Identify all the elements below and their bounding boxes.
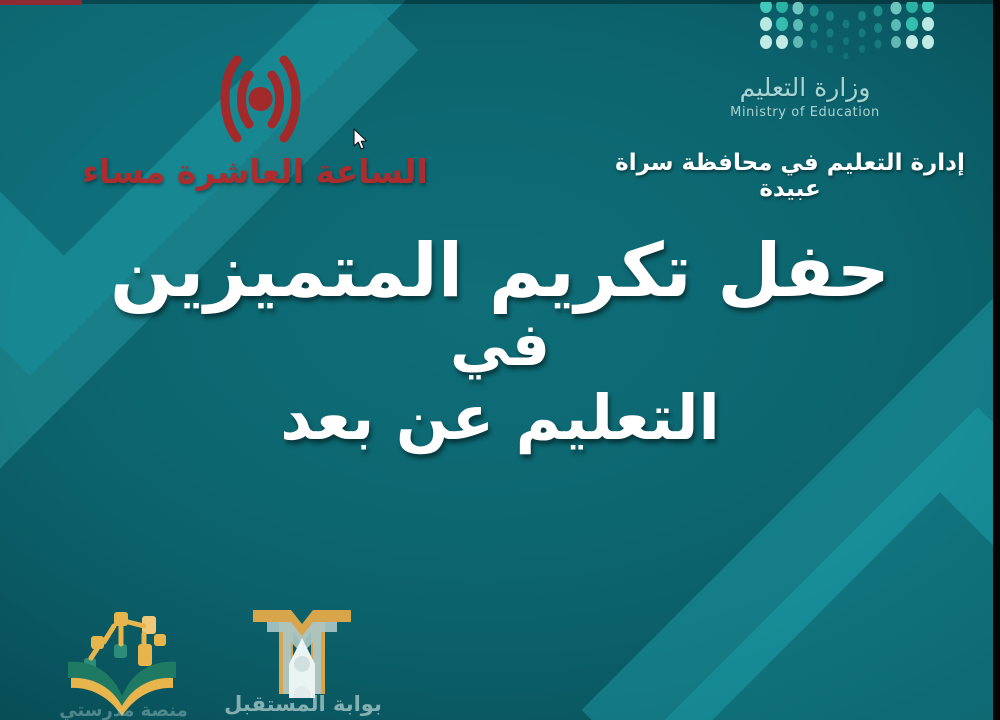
event-title: حفل تكريم المتميزين في التعليم عن بعد [0, 232, 1000, 453]
madrasati-logo-caption: منصة مدرستي [36, 700, 211, 720]
future-gate-logo-caption: بوابة المستقبل [213, 692, 393, 716]
ministry-name-arabic: وزارة التعليم [640, 74, 970, 102]
top-left-red-sliver [0, 0, 82, 5]
event-title-line-3: التعليم عن بعد [0, 383, 1000, 452]
saudi-ministry-dot-logo [752, 2, 948, 60]
presentation-slide: وزارة التعليم Ministry of Education إدار… [0, 0, 1000, 720]
event-title-line-1: حفل تكريم المتميزين [0, 232, 1000, 310]
ministry-name-english: Ministry of Education [640, 105, 970, 120]
education-administration-line: إدارة التعليم في محافظة سراة عبيدة [590, 150, 990, 202]
right-edge-border [993, 0, 1000, 720]
event-title-line-2: في [0, 310, 1000, 381]
live-broadcast-icon [203, 48, 318, 152]
ministry-wordmark: وزارة التعليم Ministry of Education [640, 74, 970, 120]
event-time-text: الساعة العاشرة مساء [55, 152, 455, 191]
